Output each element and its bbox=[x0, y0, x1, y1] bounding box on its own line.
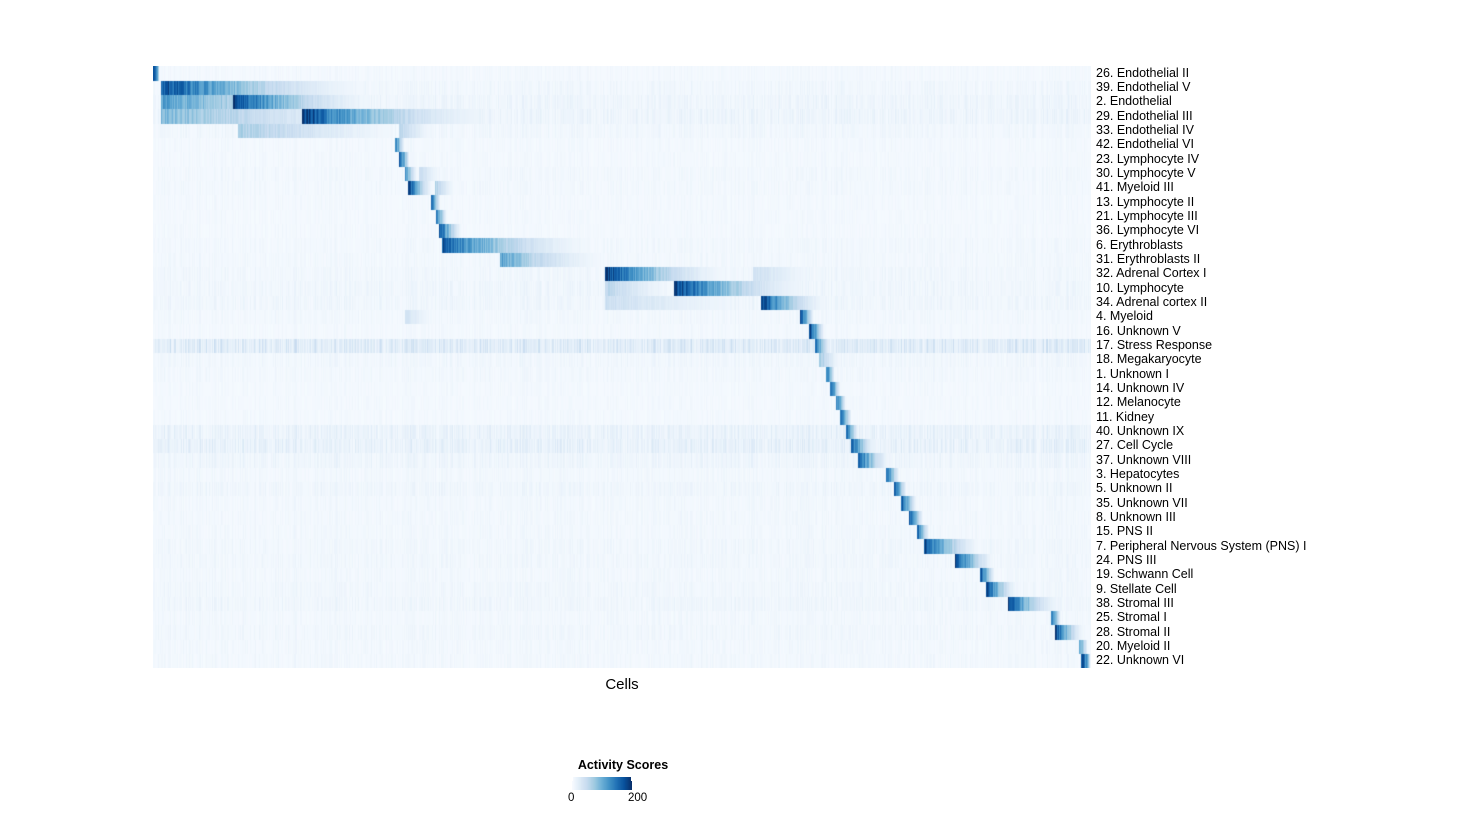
heatmap-plot-area bbox=[153, 66, 1091, 668]
gep-row-label: 32. Adrenal Cortex I bbox=[1096, 267, 1206, 280]
gep-row-label: 10. Lymphocyte bbox=[1096, 282, 1184, 295]
colorbar-tick-label: 0 bbox=[568, 792, 574, 804]
gep-row-label: 21. Lymphocyte III bbox=[1096, 210, 1198, 223]
gep-row-label: 26. Endothelial II bbox=[1096, 67, 1189, 80]
heatmap-figure: GEPs Cells 26. Endothelial II39. Endothe… bbox=[0, 0, 1457, 815]
gep-row-label: 13. Lymphocyte II bbox=[1096, 196, 1194, 209]
gep-row-label: 29. Endothelial III bbox=[1096, 110, 1193, 123]
gep-row-label: 11. Kidney bbox=[1096, 411, 1154, 424]
colorbar-gradient bbox=[572, 777, 632, 790]
gep-row-label: 33. Endothelial IV bbox=[1096, 124, 1194, 137]
gep-row-label: 30. Lymphocyte V bbox=[1096, 167, 1196, 180]
colorbar-tick-mark bbox=[631, 777, 632, 781]
gep-row-label: 2. Endothelial bbox=[1096, 95, 1172, 108]
gep-row-label: 40. Unknown IX bbox=[1096, 425, 1184, 438]
gep-row-label: 12. Melanocyte bbox=[1096, 396, 1181, 409]
gep-row-label: 14. Unknown IV bbox=[1096, 382, 1184, 395]
gep-row-label: 18. Megakaryocyte bbox=[1096, 353, 1202, 366]
gep-row-label: 1. Unknown I bbox=[1096, 368, 1169, 381]
gep-row-label: 25. Stromal I bbox=[1096, 611, 1167, 624]
heatmap-canvas bbox=[153, 66, 1091, 668]
colorbar-tick-label: 200 bbox=[628, 792, 647, 804]
gep-row-label-list: 26. Endothelial II39. Endothelial V2. En… bbox=[1096, 66, 1446, 668]
gep-row-label: 9. Stellate Cell bbox=[1096, 583, 1177, 596]
gep-row-label: 37. Unknown VIII bbox=[1096, 454, 1191, 467]
gep-row-label: 34. Adrenal cortex II bbox=[1096, 296, 1207, 309]
gep-row-label: 15. PNS II bbox=[1096, 525, 1153, 538]
gep-row-label: 7. Peripheral Nervous System (PNS) I bbox=[1096, 540, 1307, 553]
gep-row-label: 8. Unknown III bbox=[1096, 511, 1176, 524]
gep-row-label: 24. PNS III bbox=[1096, 554, 1156, 567]
colorbar-tick-mark bbox=[572, 777, 573, 781]
gep-row-label: 20. Myeloid II bbox=[1096, 640, 1170, 653]
gep-row-label: 17. Stress Response bbox=[1096, 339, 1212, 352]
gep-row-label: 28. Stromal II bbox=[1096, 626, 1170, 639]
gep-row-label: 35. Unknown VII bbox=[1096, 497, 1188, 510]
gep-row-label: 42. Endothelial VI bbox=[1096, 138, 1194, 151]
gep-row-label: 6. Erythroblasts bbox=[1096, 239, 1183, 252]
gep-row-label: 27. Cell Cycle bbox=[1096, 439, 1173, 452]
gep-row-label: 4. Myeloid bbox=[1096, 310, 1153, 323]
x-axis-label: Cells bbox=[153, 676, 1091, 693]
gep-row-label: 22. Unknown VI bbox=[1096, 654, 1184, 667]
gep-row-label: 19. Schwann Cell bbox=[1096, 568, 1193, 581]
gep-row-label: 5. Unknown II bbox=[1096, 482, 1172, 495]
gep-row-label: 3. Hepatocytes bbox=[1096, 468, 1179, 481]
gep-row-label: 36. Lymphocyte VI bbox=[1096, 224, 1199, 237]
colorbar-legend: Activity Scores 0200 bbox=[540, 758, 760, 813]
gep-row-label: 16. Unknown V bbox=[1096, 325, 1181, 338]
gep-row-label: 41. Myeloid III bbox=[1096, 181, 1174, 194]
gep-row-label: 38. Stromal III bbox=[1096, 597, 1174, 610]
gep-row-label: 23. Lymphocyte IV bbox=[1096, 153, 1199, 166]
gep-row-label: 31. Erythroblasts II bbox=[1096, 253, 1200, 266]
colorbar-title: Activity Scores bbox=[540, 758, 706, 772]
gep-row-label: 39. Endothelial V bbox=[1096, 81, 1191, 94]
colorbar-canvas bbox=[572, 777, 632, 790]
